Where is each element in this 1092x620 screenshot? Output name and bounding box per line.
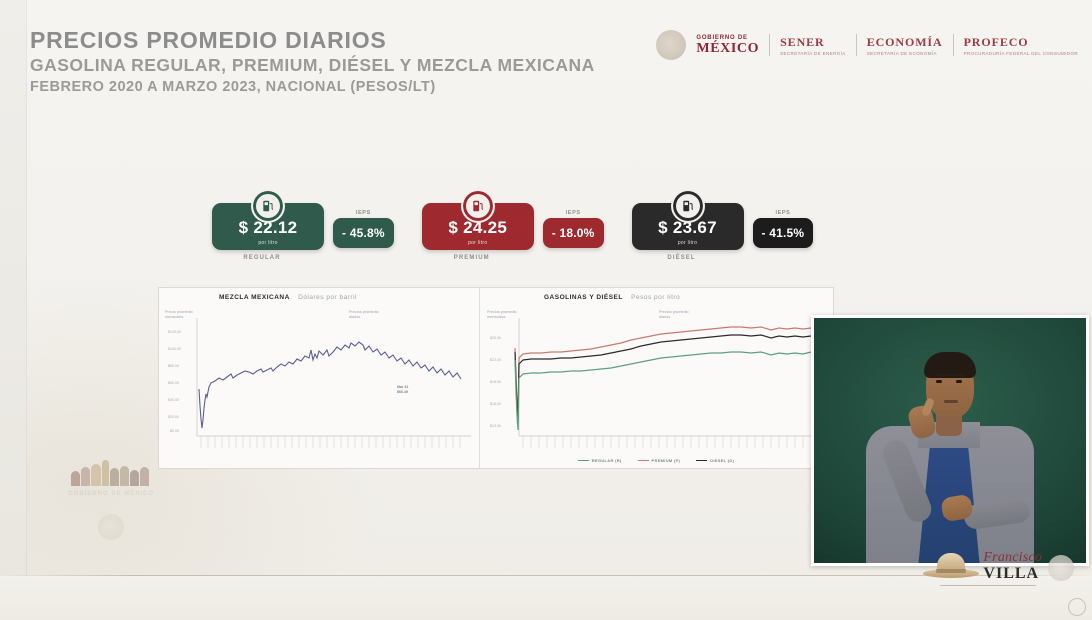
sener-sublabel: SECRETARÍA DE ENERGÍA <box>780 51 846 56</box>
fuel-pump-icon <box>671 189 705 223</box>
ieps-tag-regular: IEPS <box>352 209 375 217</box>
legend-swatch-premium <box>638 460 649 462</box>
sombrero-band <box>936 569 966 573</box>
francisco-villa-logo: Francisco VILLA <box>923 548 1074 582</box>
fuel-pump-icon <box>251 189 285 223</box>
ieps-value-diesel: - 41.5% <box>753 218 814 248</box>
price-card-group-regular: $ 22.12 por litro REGULAR IEPS - 45.8% <box>212 203 394 261</box>
sombrero-icon <box>923 548 979 582</box>
price-card-label-diesel: DIÉSEL <box>632 255 732 261</box>
interpreter-eye-right <box>956 380 962 383</box>
mexico-eagle-seal-icon <box>656 30 686 60</box>
mexico-label: MÉXICO <box>696 42 759 56</box>
wm-figure <box>110 468 119 486</box>
legend-item-premium: PREMIUM (P) <box>638 458 681 463</box>
price-unit-diesel: por litro <box>638 240 738 246</box>
legend-swatch-diesel <box>696 460 707 462</box>
interpreter-brows <box>934 374 966 376</box>
wm-figure <box>102 460 109 486</box>
francisco-label: Francisco <box>983 551 1042 565</box>
wm-figure <box>71 471 80 486</box>
ieps-tag-diesel: IEPS <box>771 209 794 217</box>
price-card-group-diesel: $ 23.67 por litro DIÉSEL IEPS - 41.5% <box>632 203 814 261</box>
gobierno-top-label: GOBIERNO DE <box>696 35 747 41</box>
wm-figure <box>130 470 139 486</box>
background-watermark: GOBIERNO DE MÉXICO <box>56 460 166 580</box>
page-title: PRECIOS PROMEDIO DIARIOS <box>30 28 595 54</box>
price-card-label-regular: REGULAR <box>212 255 312 261</box>
logo-divider <box>856 34 857 56</box>
ieps-tag-premium: IEPS <box>562 209 585 217</box>
wm-figure <box>91 464 101 486</box>
villa-label: VILLA <box>983 566 1042 582</box>
diesel-series <box>515 335 811 422</box>
ieps-badge-wrap-regular: IEPS - 45.8% <box>333 218 394 248</box>
price-card-row: $ 22.12 por litro REGULAR IEPS - 45.8% <box>212 203 841 261</box>
left-edge-strip <box>0 0 27 620</box>
interpreter-mouth <box>944 400 958 403</box>
page-subtitle-2: FEBRERO 2020 A MARZO 2023, NACIONAL (PES… <box>30 77 595 98</box>
watermark-label: GOBIERNO DE MÉXICO <box>68 490 154 500</box>
legend-label-diesel: DIESEL (D) <box>710 458 734 463</box>
slide-canvas: PRECIOS PROMEDIO DIARIOS GASOLINA REGULA… <box>0 0 1092 620</box>
ieps-value-premium: - 18.0% <box>543 218 604 248</box>
profeco-label: PROFECO <box>964 35 1029 49</box>
sener-logo: SENER SECRETARÍA DE ENERGÍA <box>780 35 846 56</box>
price-unit-premium: por litro <box>428 240 528 246</box>
price-card-regular: $ 22.12 por litro <box>212 203 324 250</box>
price-card-premium: $ 24.25 por litro <box>422 203 534 250</box>
sener-label: SENER <box>780 35 825 49</box>
sign-language-interpreter-video[interactable] <box>811 315 1089 566</box>
profeco-sublabel: PROCURADURÍA FEDERAL DEL CONSUMIDOR <box>964 51 1078 56</box>
francisco-villa-rule <box>940 585 1036 586</box>
ieps-badge-wrap-diesel: IEPS - 41.5% <box>753 218 814 248</box>
watermark-seal-icon <box>98 514 124 540</box>
right-chart-legend: REGULAR (R) PREMIUM (P) DIESEL (D) <box>479 458 833 463</box>
charts-panel: MEZCLA MEXICANA Dólares por barril Preci… <box>158 287 834 469</box>
regular-series <box>515 352 811 430</box>
legend-label-regular: REGULAR (R) <box>592 458 622 463</box>
fuel-pump-icon <box>461 189 495 223</box>
economia-logo: ECONOMÍA SECRETARÍA DE ECONOMÍA <box>867 35 943 56</box>
economia-sublabel: SECRETARÍA DE ECONOMÍA <box>867 51 943 56</box>
watermark-figures-icon <box>69 460 153 486</box>
ieps-value-regular: - 45.8% <box>333 218 394 248</box>
interpreter-eye-left <box>936 380 942 383</box>
logo-divider <box>953 34 954 56</box>
price-card-diesel: $ 23.67 por litro <box>632 203 744 250</box>
gobierno-de-mexico-logo: GOBIERNO DE MÉXICO <box>696 35 759 56</box>
legend-label-premium: PREMIUM (P) <box>652 458 681 463</box>
wm-figure <box>120 466 129 486</box>
x-axis-ticks <box>523 436 803 448</box>
logo-divider <box>769 34 770 56</box>
government-logo-bar: GOBIERNO DE MÉXICO SENER SECRETARÍA DE E… <box>656 30 1078 60</box>
page-subtitle-1: GASOLINA REGULAR, PREMIUM, DIÉSEL Y MEZC… <box>30 54 595 78</box>
ieps-badge-wrap-premium: IEPS - 18.0% <box>543 218 604 248</box>
footer-band <box>0 576 1092 620</box>
corner-marker-icon <box>1068 598 1086 616</box>
price-unit-regular: por litro <box>218 240 318 246</box>
wm-figure <box>81 467 90 486</box>
gasolinas-diesel-line-chart <box>159 288 833 468</box>
profeco-logo: PROFECO PROCURADURÍA FEDERAL DEL CONSUMI… <box>964 35 1078 56</box>
price-card-group-premium: $ 24.25 por litro PREMIUM IEPS - 18.0% <box>422 203 604 261</box>
legend-swatch-regular <box>578 460 589 462</box>
wm-figure <box>140 467 149 486</box>
francisco-villa-text: Francisco VILLA <box>983 551 1042 582</box>
page-header: PRECIOS PROMEDIO DIARIOS GASOLINA REGULA… <box>30 28 595 98</box>
legend-item-regular: REGULAR (R) <box>578 458 622 463</box>
legend-item-diesel: DIESEL (D) <box>696 458 734 463</box>
price-card-label-premium: PREMIUM <box>422 255 522 261</box>
economia-label: ECONOMÍA <box>867 35 943 49</box>
francisco-villa-seal-icon <box>1048 555 1074 581</box>
